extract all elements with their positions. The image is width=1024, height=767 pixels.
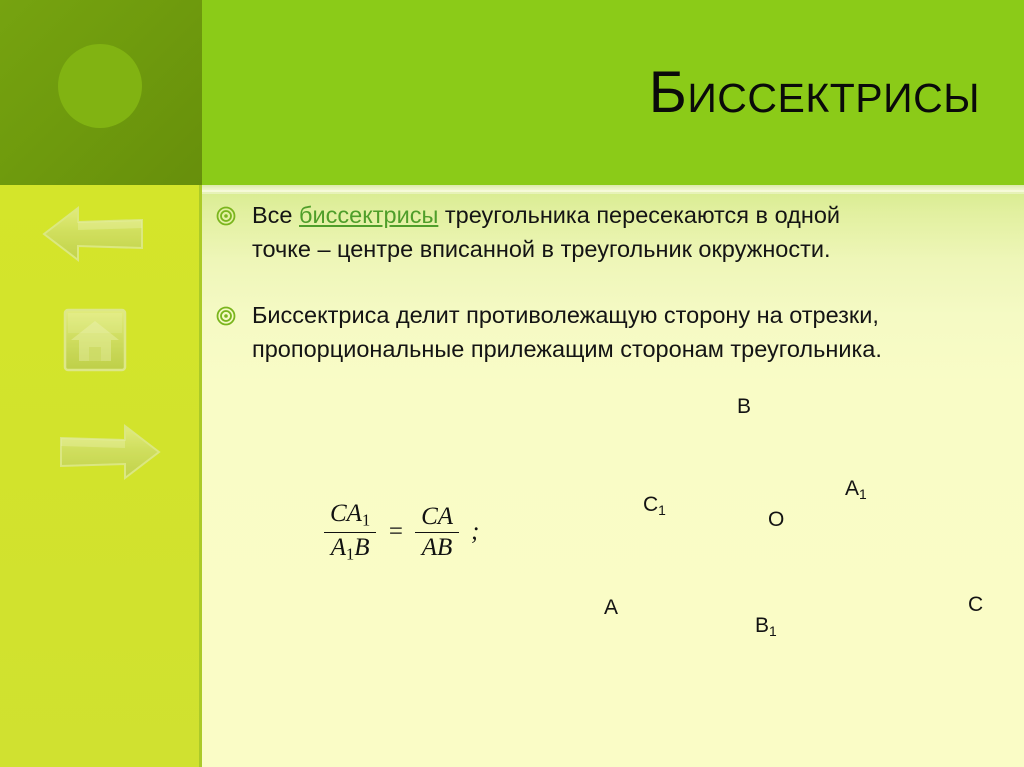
fraction-right-denominator: AB	[416, 533, 459, 562]
title-container: Биссектрисы	[202, 0, 1002, 185]
vertex-label-C: C	[968, 594, 983, 615]
fraction-right-numerator: CA	[415, 503, 459, 532]
vertex-label-B: B	[737, 396, 751, 417]
point-label-C1-text: C	[643, 493, 658, 516]
fraction-left-denominator: A1B	[325, 533, 376, 565]
list-item: Все биссектрисы треугольника пересекаютс…	[216, 198, 896, 266]
back-arrow-icon[interactable]	[38, 200, 148, 273]
point-label-B1-text: B	[755, 614, 769, 637]
point-label-A1: A1	[845, 478, 867, 502]
point-label-C1-sub: 1	[658, 502, 666, 518]
point-label-A1-sub: 1	[859, 486, 867, 502]
ring-bullet-icon	[216, 306, 236, 326]
proportion-formula: CA1 A1B = CA AB ;	[318, 500, 479, 565]
fraction-left-numerator: CA1	[324, 500, 376, 532]
forward-arrow-icon[interactable]	[55, 418, 165, 491]
bullet-list: Все биссектрисы треугольника пересекаютс…	[216, 198, 896, 388]
home-icon[interactable]	[60, 305, 130, 380]
bisector-link[interactable]: биссектрисы	[299, 202, 438, 228]
denominator-left-tail: B	[354, 534, 369, 561]
fraction-left: CA1 A1B	[324, 500, 376, 565]
presentation-slide: Биссектрисы	[0, 0, 1024, 767]
vertex-label-A: A	[604, 597, 618, 618]
list-item-text: Биссектриса делит противолежащую сторону…	[252, 298, 896, 366]
ring-bullet-icon	[216, 206, 236, 226]
bullet-1-prefix: Все	[252, 202, 299, 228]
denominator-left-sub: 1	[346, 545, 354, 564]
header-corner-block	[0, 0, 202, 185]
incenter-label-O: O	[768, 509, 784, 530]
vertex-label-A-text: A	[604, 596, 618, 619]
page-title: Биссектрисы	[649, 64, 1002, 122]
sidebar-divider	[199, 185, 202, 767]
header-underline-highlight	[202, 190, 1024, 194]
point-label-B1: B1	[755, 615, 777, 639]
denominator-left-text: A	[331, 534, 346, 561]
list-item-text: Все биссектрисы треугольника пересекаютс…	[252, 198, 896, 266]
list-item: Биссектриса делит противолежащую сторону…	[216, 298, 896, 366]
vertex-label-B-text: B	[737, 395, 751, 418]
formula-terminator: ;	[471, 518, 479, 546]
equals-sign: =	[387, 518, 404, 546]
point-label-A1-text: A	[845, 477, 859, 500]
decorative-circle-icon	[58, 44, 142, 128]
point-label-C1: C1	[643, 494, 666, 518]
fraction-right: CA AB	[415, 503, 459, 563]
vertex-label-C-text: C	[968, 593, 983, 616]
point-label-B1-sub: 1	[769, 623, 777, 639]
numerator-left-text: CA	[330, 500, 362, 527]
incenter-label-O-text: O	[768, 508, 784, 531]
numerator-left-sub: 1	[362, 511, 370, 530]
